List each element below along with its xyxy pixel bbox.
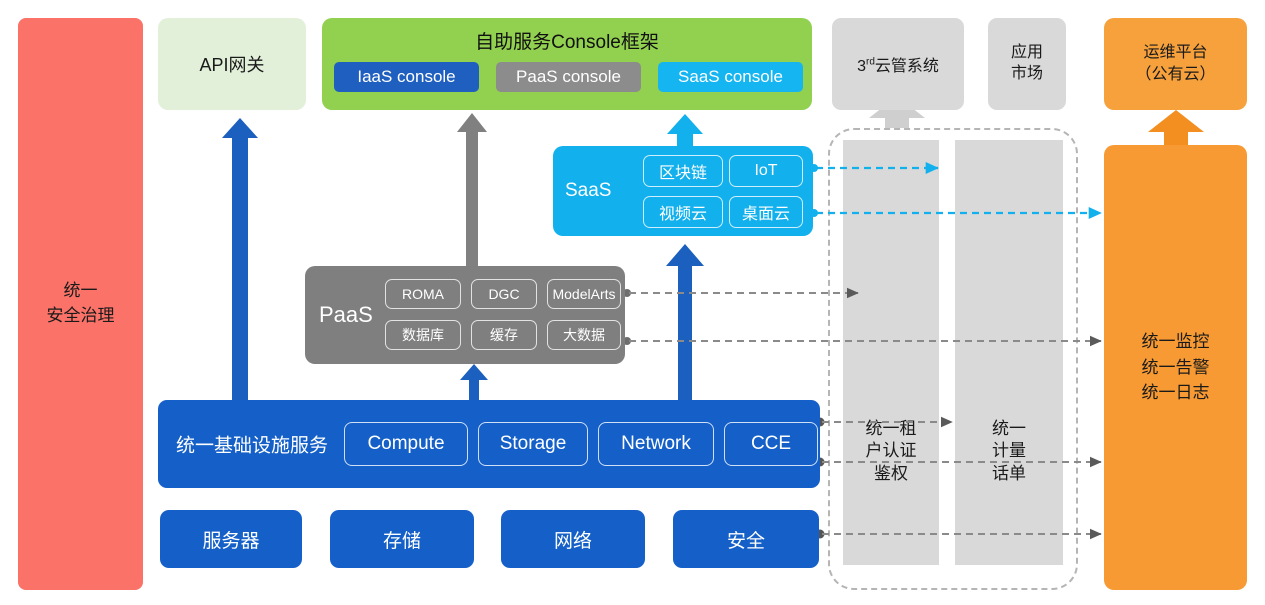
infra-pill-network[interactable]: Network <box>598 422 714 466</box>
iaas-console-pill[interactable]: IaaS console <box>334 62 479 92</box>
architecture-diagram: 统一租 户认证 鉴权 统一 计量 话单 <box>0 0 1265 605</box>
app-market-line-1: 应用 <box>1011 43 1043 64</box>
auth-line-2: 户认证 <box>843 440 939 462</box>
ops-platform-label: 运维平台 （公有云） <box>1135 42 1215 85</box>
arrow-paas-to-paas-console <box>457 113 487 266</box>
auth-line-1: 统一租 <box>843 418 939 440</box>
ops-column-label: 统一监控 统一告警 统一日志 <box>1142 329 1210 406</box>
dash-paas-to-auth <box>623 289 858 297</box>
saas-layer[interactable]: SaaS 区块链 IoT 视频云 桌面云 <box>553 146 813 236</box>
api-gateway-label: API网关 <box>199 51 264 77</box>
billing-line-3: 话单 <box>955 463 1063 485</box>
app-market-line-2: 市场 <box>1011 64 1043 85</box>
billing-line-2: 计量 <box>955 440 1063 462</box>
ops-platform-line-2: （公有云） <box>1135 64 1215 86</box>
hardware-box-security[interactable]: 安全 <box>673 510 819 568</box>
arrow-infra-to-paas <box>460 364 488 400</box>
arrow-infra-to-saas <box>666 244 704 400</box>
hardware-box-storage[interactable]: 存储 <box>330 510 474 568</box>
unified-billing-label: 统一 计量 话单 <box>955 418 1063 485</box>
third-cloud-prefix: 3 <box>857 58 866 75</box>
infra-pill-storage[interactable]: Storage <box>478 422 588 466</box>
saas-layer-label: SaaS <box>565 180 611 202</box>
paas-layer[interactable]: PaaS ROMA DGC ModelArts 数据库 缓存 大数据 <box>305 266 625 364</box>
hardware-box-server[interactable]: 服务器 <box>160 510 302 568</box>
unified-tenant-auth-column: 统一租 户认证 鉴权 <box>843 140 939 565</box>
arrow-saas-to-saas-console <box>667 114 703 146</box>
third-party-cloud-mgmt-box[interactable]: 3rd云管系统 <box>832 18 964 110</box>
infra-layer-label: 统一基础设施服务 <box>176 431 328 458</box>
paas-pill-modelarts[interactable]: ModelArts <box>547 279 621 309</box>
saas-pill-video-cloud[interactable]: 视频云 <box>643 196 723 228</box>
app-market-box[interactable]: 应用 市场 <box>988 18 1066 110</box>
third-cloud-sup: rd <box>866 57 875 68</box>
infra-pill-cce[interactable]: CCE <box>724 422 818 466</box>
security-line-2: 安全治理 <box>47 304 115 329</box>
paas-layer-label: PaaS <box>319 302 373 328</box>
unified-infrastructure-service-layer[interactable]: 统一基础设施服务 Compute Storage Network CCE <box>158 400 820 488</box>
infra-pill-compute[interactable]: Compute <box>344 422 468 466</box>
saas-console-pill[interactable]: SaaS console <box>658 62 803 92</box>
third-cloud-label: 3rd云管系统 <box>857 52 939 76</box>
self-service-console-framework[interactable]: 自助服务Console框架 IaaS console PaaS console … <box>322 18 812 110</box>
unified-ops-column[interactable]: 统一监控 统一告警 统一日志 <box>1104 145 1247 590</box>
unified-tenant-auth-label: 统一租 户认证 鉴权 <box>843 418 939 485</box>
billing-line-1: 统一 <box>955 418 1063 440</box>
paas-pill-roma[interactable]: ROMA <box>385 279 461 309</box>
ops-column-line-3: 统一日志 <box>1142 380 1210 406</box>
security-governance-label: 统一 安全治理 <box>47 279 115 328</box>
unified-security-governance-panel[interactable]: 统一 安全治理 <box>18 18 143 590</box>
console-framework-title: 自助服务Console框架 <box>322 27 812 54</box>
paas-pill-cache[interactable]: 缓存 <box>471 320 537 350</box>
saas-pill-desktop-cloud[interactable]: 桌面云 <box>729 196 803 228</box>
paas-pill-bigdata[interactable]: 大数据 <box>547 320 621 350</box>
ops-column-line-2: 统一告警 <box>1142 355 1210 381</box>
unified-billing-column: 统一 计量 话单 <box>955 140 1063 565</box>
ops-platform-box[interactable]: 运维平台 （公有云） <box>1104 18 1247 110</box>
security-line-1: 统一 <box>47 279 115 304</box>
arrow-ops-column-to-ops-platform <box>1148 110 1204 145</box>
paas-pill-dgc[interactable]: DGC <box>471 279 537 309</box>
ops-platform-line-1: 运维平台 <box>1135 42 1215 64</box>
arrow-infra-to-api-gateway <box>222 118 258 400</box>
paas-console-pill[interactable]: PaaS console <box>496 62 641 92</box>
saas-pill-blockchain[interactable]: 区块链 <box>643 155 723 187</box>
paas-pill-database[interactable]: 数据库 <box>385 320 461 350</box>
ops-column-line-1: 统一监控 <box>1142 329 1210 355</box>
third-cloud-suffix: 云管系统 <box>875 58 939 75</box>
api-gateway-box[interactable]: API网关 <box>158 18 306 110</box>
hardware-box-network[interactable]: 网络 <box>501 510 645 568</box>
app-market-label: 应用 市场 <box>1011 43 1043 85</box>
auth-line-3: 鉴权 <box>843 463 939 485</box>
saas-pill-iot[interactable]: IoT <box>729 155 803 187</box>
